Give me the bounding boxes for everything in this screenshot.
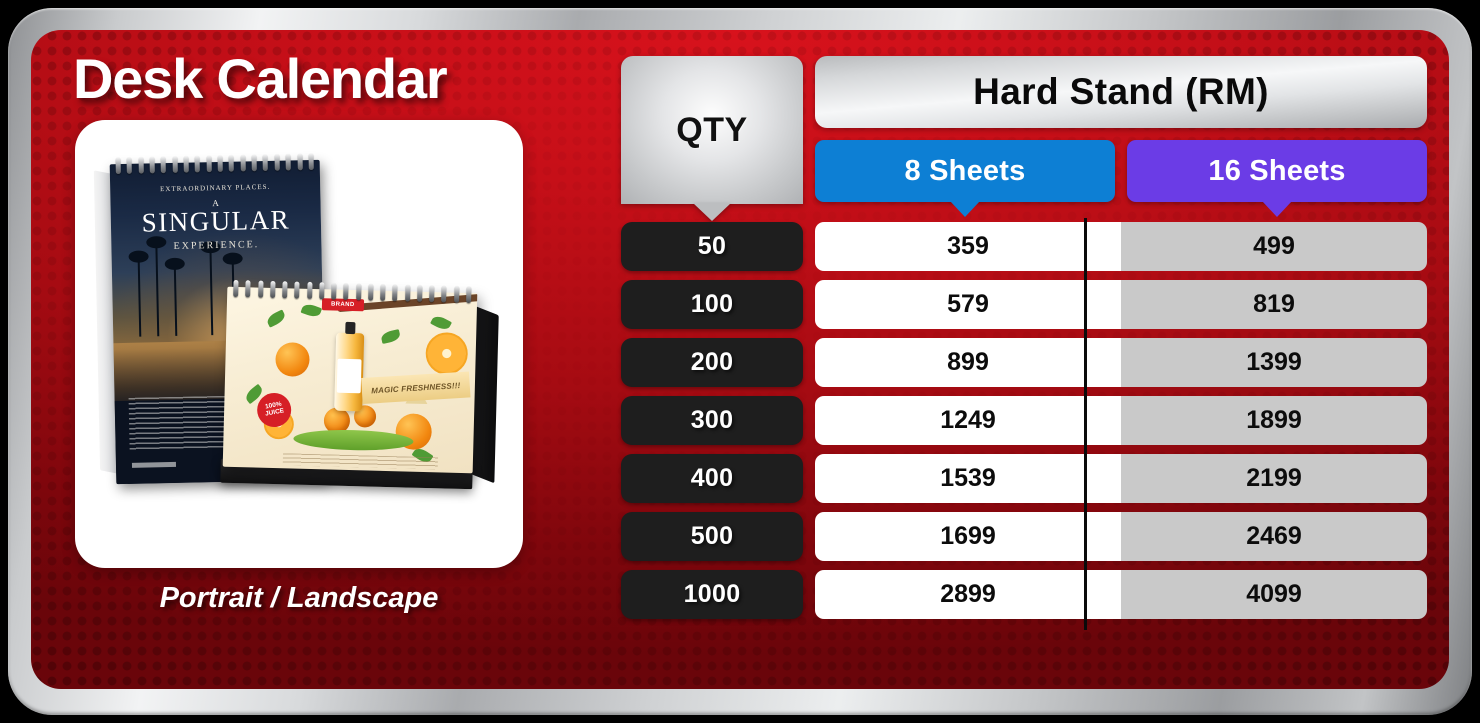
pricing-table-header: QTY Hard Stand (RM) 8 Sheets	[621, 56, 1427, 204]
price-cell-8-sheets: 579	[815, 280, 1121, 329]
pricing-table: QTY Hard Stand (RM) 8 Sheets	[621, 30, 1449, 689]
juice-bottle-label	[337, 359, 362, 394]
orange-character-icon	[275, 342, 310, 377]
table-row: 500 1699 2469	[621, 512, 1427, 561]
tab-16-sheets-pointer-icon	[1262, 201, 1292, 217]
price-cell-8-sheets: 899	[815, 338, 1121, 387]
column-divider	[1084, 218, 1087, 630]
qty-cell: 300	[621, 396, 803, 445]
ribbon-banner: MAGIC FRESHNESS!!!	[361, 371, 470, 404]
tab-8-sheets[interactable]: 8 Sheets	[815, 140, 1115, 202]
table-row: 1000 2899 4099	[621, 570, 1427, 619]
landscape-calendar-image: BRAND MAGIC FRESHNESS!!! 100% JUICE	[223, 287, 478, 473]
juice-bottle-icon	[334, 333, 364, 412]
price-cell-8-sheets: 1249	[815, 396, 1121, 445]
price-cell-8-sheets: 2899	[815, 570, 1121, 619]
poster-stage: Desk Calendar	[0, 0, 1480, 723]
orientation-caption: Portrait / Landscape	[75, 582, 523, 615]
qty-column-header-label: QTY	[676, 111, 747, 150]
tab-16-sheets-label: 16 Sheets	[1208, 155, 1345, 188]
qty-cell: 1000	[621, 570, 803, 619]
qty-cell: 400	[621, 454, 803, 503]
price-cell-16-sheets: 2199	[1121, 454, 1427, 503]
qty-cell: 100	[621, 280, 803, 329]
qty-cell: 50	[621, 222, 803, 271]
group-header: Hard Stand (RM)	[815, 56, 1427, 128]
qty-column-header: QTY	[621, 56, 803, 204]
price-cell-16-sheets: 499	[1121, 222, 1427, 271]
portrait-headline: SINGULAR	[111, 204, 322, 239]
leaf-icon	[301, 302, 323, 319]
price-cell-16-sheets: 4099	[1121, 570, 1427, 619]
tab-16-sheets[interactable]: 16 Sheets	[1127, 140, 1427, 202]
table-row: 300 1249 1899	[621, 396, 1427, 445]
qty-cell: 500	[621, 512, 803, 561]
chrome-frame: Desk Calendar	[8, 8, 1472, 715]
qty-cell: 200	[621, 338, 803, 387]
price-cell-8-sheets: 359	[815, 222, 1121, 271]
orange-slice-icon	[425, 332, 468, 375]
table-row: 200 899 1399	[621, 338, 1427, 387]
pricing-rows: 50 359 499 100 579 819	[621, 222, 1427, 619]
leaf-icon	[430, 314, 452, 333]
price-cell-8-sheets: 1699	[815, 512, 1121, 561]
leaf-icon	[265, 310, 287, 328]
page-title: Desk Calendar	[73, 46, 446, 111]
tab-8-sheets-label: 8 Sheets	[905, 155, 1026, 188]
group-header-label: Hard Stand (RM)	[973, 71, 1269, 113]
price-cell-8-sheets: 1539	[815, 454, 1121, 503]
qty-header-pointer-icon	[693, 203, 731, 221]
price-cell-16-sheets: 1899	[1121, 396, 1427, 445]
price-cell-16-sheets: 1399	[1121, 338, 1427, 387]
table-row: 100 579 819	[621, 280, 1427, 329]
table-row: 400 1539 2199	[621, 454, 1427, 503]
price-cell-16-sheets: 819	[1121, 280, 1427, 329]
table-row: 50 359 499	[621, 222, 1427, 271]
brand-tag: BRAND	[322, 298, 364, 311]
price-cell-16-sheets: 2469	[1121, 512, 1427, 561]
portrait-logo-mark	[132, 462, 176, 468]
product-showcase: Desk Calendar	[31, 30, 621, 689]
red-panel: Desk Calendar	[31, 30, 1449, 689]
product-photo-panel: EXTRAORDINARY PLACES. A SINGULAR EXPERIE…	[75, 120, 523, 568]
tab-8-sheets-pointer-icon	[950, 201, 980, 217]
landscape-calendar-page: BRAND MAGIC FRESHNESS!!! 100% JUICE	[223, 287, 478, 473]
leaf-icon	[380, 329, 401, 344]
sheet-option-tabs: 8 Sheets 16 Sheets	[815, 140, 1427, 202]
